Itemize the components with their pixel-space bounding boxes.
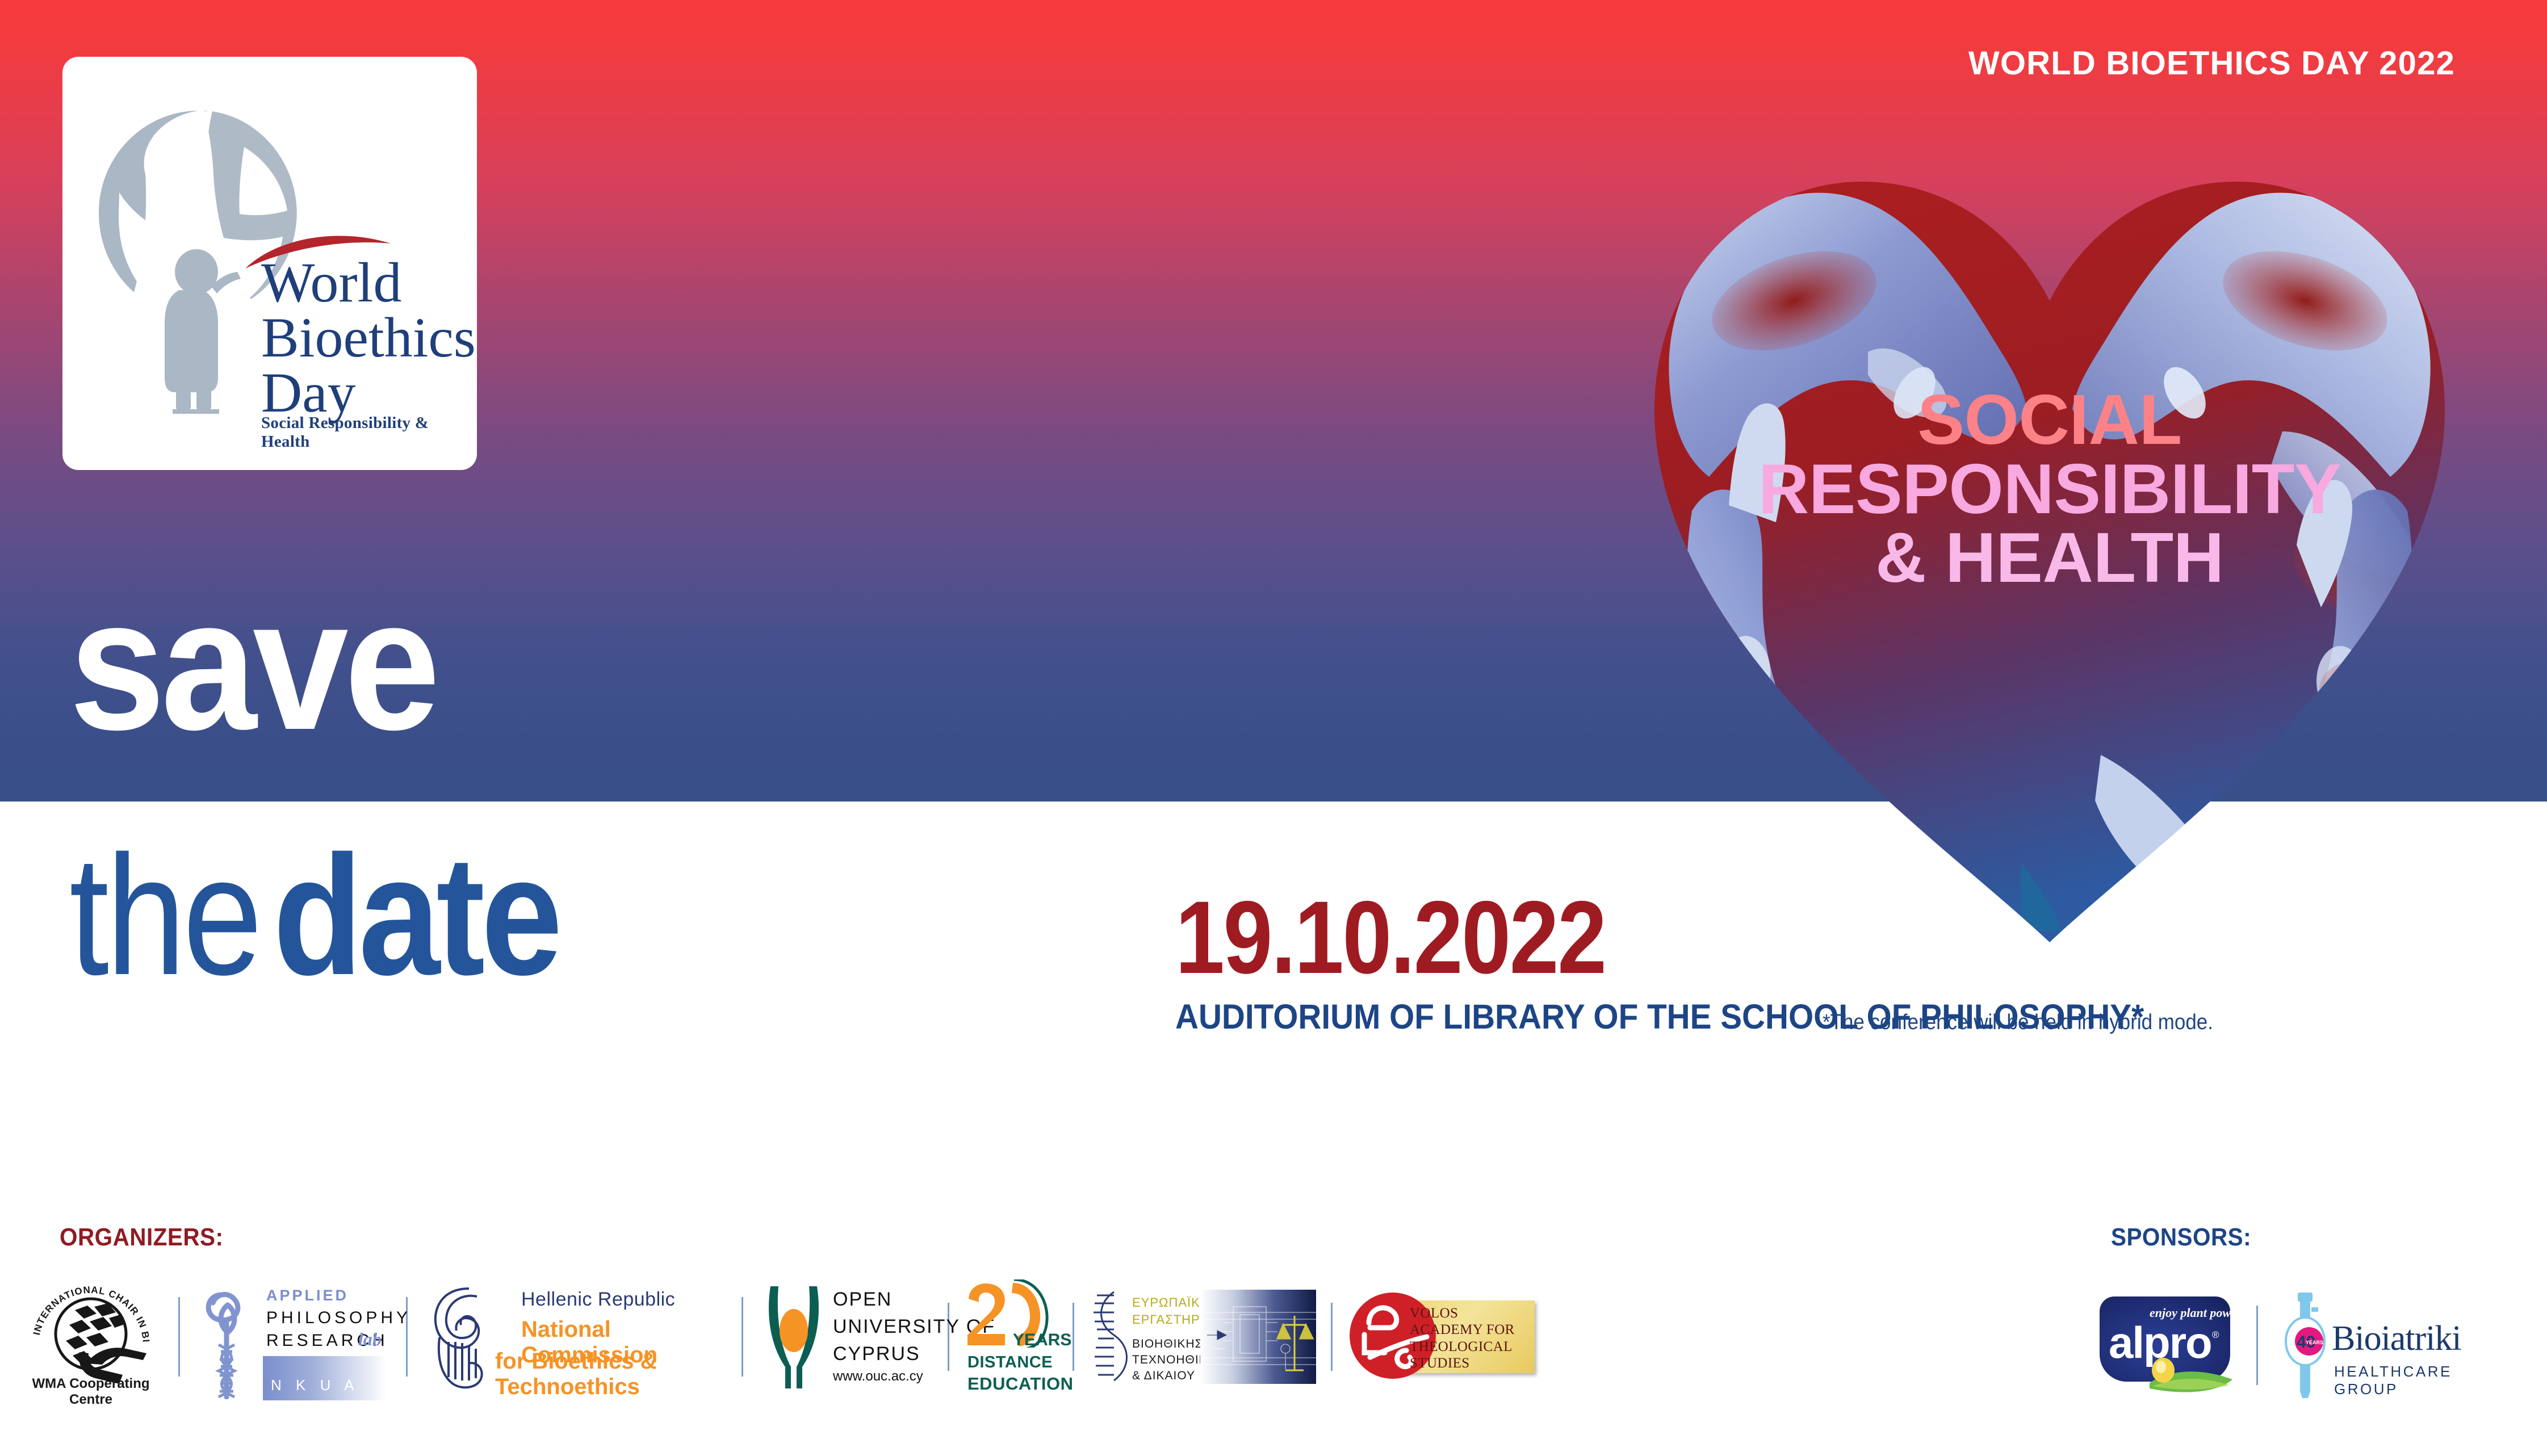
icb-caption: WMA Cooperating Centre xyxy=(23,1376,159,1408)
logo-open-university-of-cyprus: OPEN UNIVERSITY OF CYPRUS www.ouc.ac.cy xyxy=(763,1276,933,1398)
bioiatriki-wordmark: Bioiatriki xyxy=(2332,1319,2461,1359)
divider xyxy=(1331,1303,1333,1371)
logo-line-2: Bioethics xyxy=(261,306,476,369)
test-tube-icon: 40 YEARS xyxy=(2280,1291,2331,1399)
elab-line-5: & ΔΙΚΑΙΟΥ xyxy=(1132,1369,1195,1383)
heart-shape-icon xyxy=(1624,114,2475,948)
logo-applied-philosophy-research-lab: APPLIED PHILOSOPHY RESEARCH lab N K U A xyxy=(199,1273,387,1401)
hellenic-line-3: for Bioethics & Technoethics xyxy=(495,1349,722,1400)
elab-line-1: ΕΥΡΩΠΑΪΚΟ xyxy=(1132,1295,1210,1310)
divider xyxy=(178,1297,180,1377)
logo-bioiatriki: 40 YEARS Bioiatriki HEALTHCARE GROUP xyxy=(2277,1291,2499,1399)
sponsors-label: SPONSORS: xyxy=(2111,1223,2251,1252)
aprl-nkua: N K U A xyxy=(271,1377,359,1394)
svg-text:YEARS: YEARS xyxy=(2306,1340,2323,1345)
aprl-line-2: PHILOSOPHY xyxy=(266,1308,411,1328)
logo-wordmark: World Bioethics Day xyxy=(261,255,476,420)
divider xyxy=(2256,1306,2258,1385)
logo-european-lab-bioethics: ΕΥΡΩΠΑΪΚΟ ΕΡΓΑΣΤΗΡΙΟ ΒΙΟΗΘΙΚΗΣ ΤΕΧΝΟΗΘΙΚ… xyxy=(1089,1289,1316,1385)
logo-tagline: Social Responsibility & Health xyxy=(261,414,466,451)
years-label: YEARS xyxy=(1013,1331,1071,1350)
headline-the: the xyxy=(69,840,259,990)
elab-line-3: ΒΙΟΗΘΙΚΗΣ xyxy=(1132,1337,1203,1351)
globe-in-hand-icon: INTERNATIONAL CHAIR IN BIOETHICS xyxy=(23,1266,159,1388)
ouc-website: www.ouc.ac.cy xyxy=(833,1369,923,1384)
save-the-date-poster: World Bioethics Day Social Responsibilit… xyxy=(0,0,2547,1456)
divider xyxy=(1073,1303,1074,1371)
organizers-logo-strip: INTERNATIONAL CHAIR IN BIOETHICS xyxy=(23,1266,1535,1408)
headline-date: date xyxy=(273,840,559,990)
event-footnote: *The conference will be held in hybrid m… xyxy=(1823,1010,2213,1035)
logo-20-years-distance-education: YEARS DISTANCE EDUCATION xyxy=(964,1276,1058,1398)
event-details: 19.10.2022 AUDITORIUM OF LIBRARY OF THE … xyxy=(1175,886,2217,1037)
leaf-icon xyxy=(2150,1353,2235,1394)
logo-alpro: enjoy plant power alpro ® xyxy=(2095,1294,2237,1396)
education-label: EDUCATION xyxy=(967,1374,1073,1394)
icb-arc-text: INTERNATIONAL CHAIR IN BIOETHICS xyxy=(23,1266,152,1343)
headline-save: save xyxy=(69,570,436,758)
event-date: 19.10.2022 xyxy=(1175,886,2071,989)
alpro-registered-mark: ® xyxy=(2212,1329,2219,1341)
logo-hellenic-national-commission: Hellenic Republic National Commission fo… xyxy=(427,1276,722,1398)
logo-volos-academy: VOLOS ACADEMY FOR THEOLOGICAL STUDIES xyxy=(1347,1280,1535,1394)
hands-heart-artwork: SOCIAL RESPONSIBILITY & HEALTH xyxy=(1624,114,2475,948)
aprl-line-4: lab xyxy=(358,1329,382,1350)
logo-line-1: World xyxy=(261,251,401,314)
logo-international-chair-in-bioethics: INTERNATIONAL CHAIR IN BIOETHICS xyxy=(23,1266,159,1408)
aprl-line-1: APPLIED xyxy=(266,1287,349,1304)
svg-text:INTERNATIONAL CHAIR IN BIOETHI: INTERNATIONAL CHAIR IN BIOETHICS xyxy=(23,1266,152,1343)
hellenic-line-1: Hellenic Republic xyxy=(521,1289,675,1311)
headline-the-date: the date xyxy=(69,840,605,990)
ouc-line-1: OPEN xyxy=(833,1289,892,1311)
world-bioethics-day-logo: World Bioethics Day Social Responsibilit… xyxy=(62,57,477,470)
bioiatriki-subtitle: HEALTHCARE GROUP xyxy=(2334,1363,2499,1398)
dna-strand-icon xyxy=(1089,1291,1130,1382)
organizers-label: ORGANIZERS: xyxy=(60,1223,223,1252)
sponsors-logo-strip: enjoy plant power alpro ® xyxy=(2095,1286,2499,1405)
distance-label: DISTANCE xyxy=(967,1353,1053,1372)
page-title: WORLD BIOETHICS DAY 2022 xyxy=(1968,44,2455,82)
ouc-line-3: CYPRUS xyxy=(833,1343,920,1365)
divider xyxy=(742,1297,743,1377)
child-silhouette-icon xyxy=(159,249,250,414)
circuit-panel-icon xyxy=(1200,1290,1316,1384)
dna-caduceus-icon xyxy=(199,1286,256,1399)
tulip-icon xyxy=(763,1282,825,1390)
volos-text: VOLOS ACADEMY FOR THEOLOGICAL STUDIES xyxy=(1410,1305,1532,1371)
